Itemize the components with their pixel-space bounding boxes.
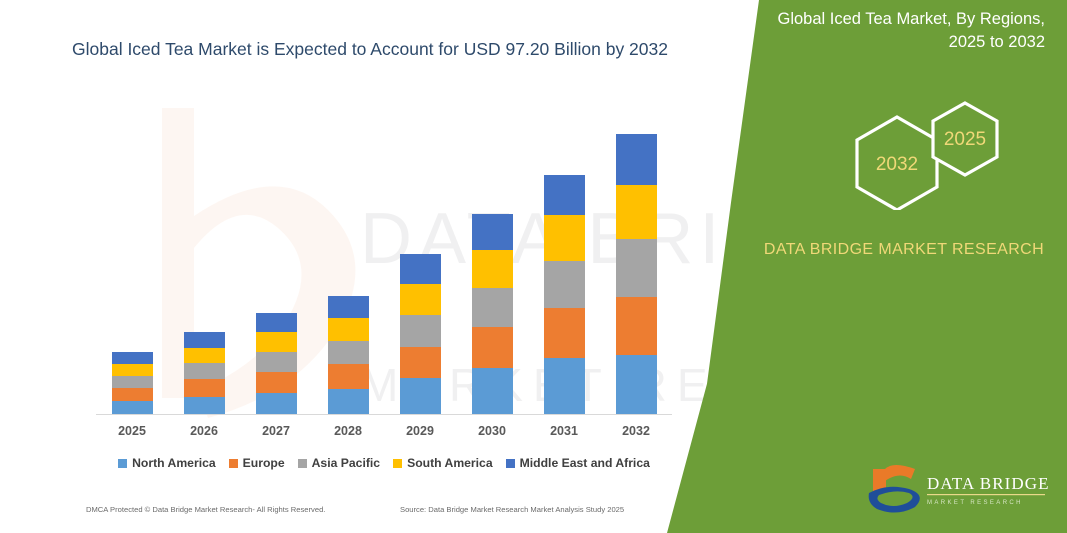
x-axis-label: 2030: [456, 424, 528, 438]
bar-segment: [400, 378, 441, 414]
bar-segment: [256, 352, 297, 372]
bar-column: [168, 332, 240, 414]
bar-segment: [256, 393, 297, 414]
bar-segment: [544, 175, 585, 215]
bar-segment: [256, 332, 297, 352]
bar-segment: [184, 397, 225, 414]
bar-segment: [472, 368, 513, 414]
bar-segment: [112, 401, 153, 414]
stacked-bar-group: [96, 120, 672, 414]
bar-segment: [400, 315, 441, 347]
bar-segment: [112, 352, 153, 364]
bar-segment: [184, 379, 225, 396]
chart-area: Global Iced Tea Market is Expected to Ac…: [0, 0, 740, 533]
bar-segment: [616, 185, 657, 239]
bar-segment: [400, 284, 441, 315]
bar-segment: [328, 364, 369, 388]
legend-item[interactable]: North America: [118, 456, 216, 470]
bar-segment: [472, 327, 513, 368]
legend-item[interactable]: Asia Pacific: [298, 456, 380, 470]
logo-divider: [927, 494, 1045, 495]
x-axis-labels: 20252026202720282029203020312032: [96, 424, 672, 438]
brand-name: DATA BRIDGE MARKET RESEARCH: [759, 238, 1049, 261]
bar-segment: [472, 288, 513, 327]
chart-legend: North AmericaEuropeAsia PacificSouth Ame…: [96, 456, 672, 470]
bar-segment: [544, 261, 585, 308]
bar-segment: [328, 389, 369, 414]
x-axis-label: 2027: [240, 424, 312, 438]
panel-title: Global Iced Tea Market, By Regions, 2025…: [745, 8, 1045, 55]
x-axis-label: 2025: [96, 424, 168, 438]
bar-segment: [328, 341, 369, 364]
x-axis-label: 2031: [528, 424, 600, 438]
footer-source: Source: Data Bridge Market Research Mark…: [400, 505, 624, 514]
bar-segment: [184, 348, 225, 364]
bar-column: [528, 175, 600, 414]
legend-item[interactable]: Europe: [229, 456, 285, 470]
bar-segment: [184, 363, 225, 379]
legend-item[interactable]: Middle East and Africa: [506, 456, 650, 470]
bar-segment: [616, 239, 657, 297]
bar-segment: [256, 313, 297, 332]
legend-swatch: [118, 459, 127, 468]
logo-mark-icon: [869, 465, 920, 513]
legend-swatch: [506, 459, 515, 468]
bar-segment: [544, 215, 585, 261]
hexagon-svg: 2032 2025: [797, 95, 1057, 210]
data-bridge-logo-svg: DATA BRIDGE MARKET RESEARCH: [865, 465, 1055, 517]
bar-column: [96, 352, 168, 414]
x-axis-label: 2026: [168, 424, 240, 438]
bar-segment: [112, 376, 153, 388]
bar-segment: [616, 134, 657, 185]
bar-segment: [616, 355, 657, 414]
axis-baseline: [96, 414, 672, 415]
footer-copyright: DMCA Protected © Data Bridge Market Rese…: [86, 505, 325, 514]
bar-segment: [184, 332, 225, 347]
logo-primary-text: DATA BRIDGE: [927, 474, 1050, 493]
bar-segment: [544, 358, 585, 414]
bar-segment: [472, 250, 513, 288]
legend-label: North America: [132, 456, 216, 470]
bar-segment: [400, 347, 441, 378]
bar-segment: [256, 372, 297, 393]
hexagon-2025-label: 2025: [944, 129, 986, 150]
legend-swatch: [393, 459, 402, 468]
x-axis-label: 2032: [600, 424, 672, 438]
hexagon-2032-label: 2032: [876, 154, 918, 175]
hexagon-group: 2032 2025: [797, 95, 1057, 210]
legend-label: Middle East and Africa: [520, 456, 650, 470]
bar-segment: [544, 308, 585, 358]
bar-segment: [112, 364, 153, 376]
legend-swatch: [229, 459, 238, 468]
bar-segment: [472, 214, 513, 250]
logo-secondary-text: MARKET RESEARCH: [927, 500, 1023, 506]
x-axis-label: 2029: [384, 424, 456, 438]
legend-swatch: [298, 459, 307, 468]
bar-column: [240, 313, 312, 414]
bar-segment: [328, 296, 369, 318]
legend-item[interactable]: South America: [393, 456, 493, 470]
bar-column: [312, 296, 384, 414]
x-axis-label: 2028: [312, 424, 384, 438]
bar-segment: [328, 318, 369, 341]
bar-segment: [616, 297, 657, 355]
bar-column: [600, 134, 672, 414]
data-bridge-logo: DATA BRIDGE MARKET RESEARCH: [865, 465, 1055, 517]
legend-label: Asia Pacific: [312, 456, 380, 470]
bar-column: [384, 254, 456, 414]
bar-segment: [400, 254, 441, 284]
legend-label: South America: [407, 456, 493, 470]
chart-title: Global Iced Tea Market is Expected to Ac…: [60, 36, 680, 63]
infographic-canvas: DATA BRIDGE MARKET RESEARCH Global Iced …: [0, 0, 1067, 533]
bar-column: [456, 214, 528, 414]
bar-segment: [112, 388, 153, 401]
legend-label: Europe: [243, 456, 285, 470]
